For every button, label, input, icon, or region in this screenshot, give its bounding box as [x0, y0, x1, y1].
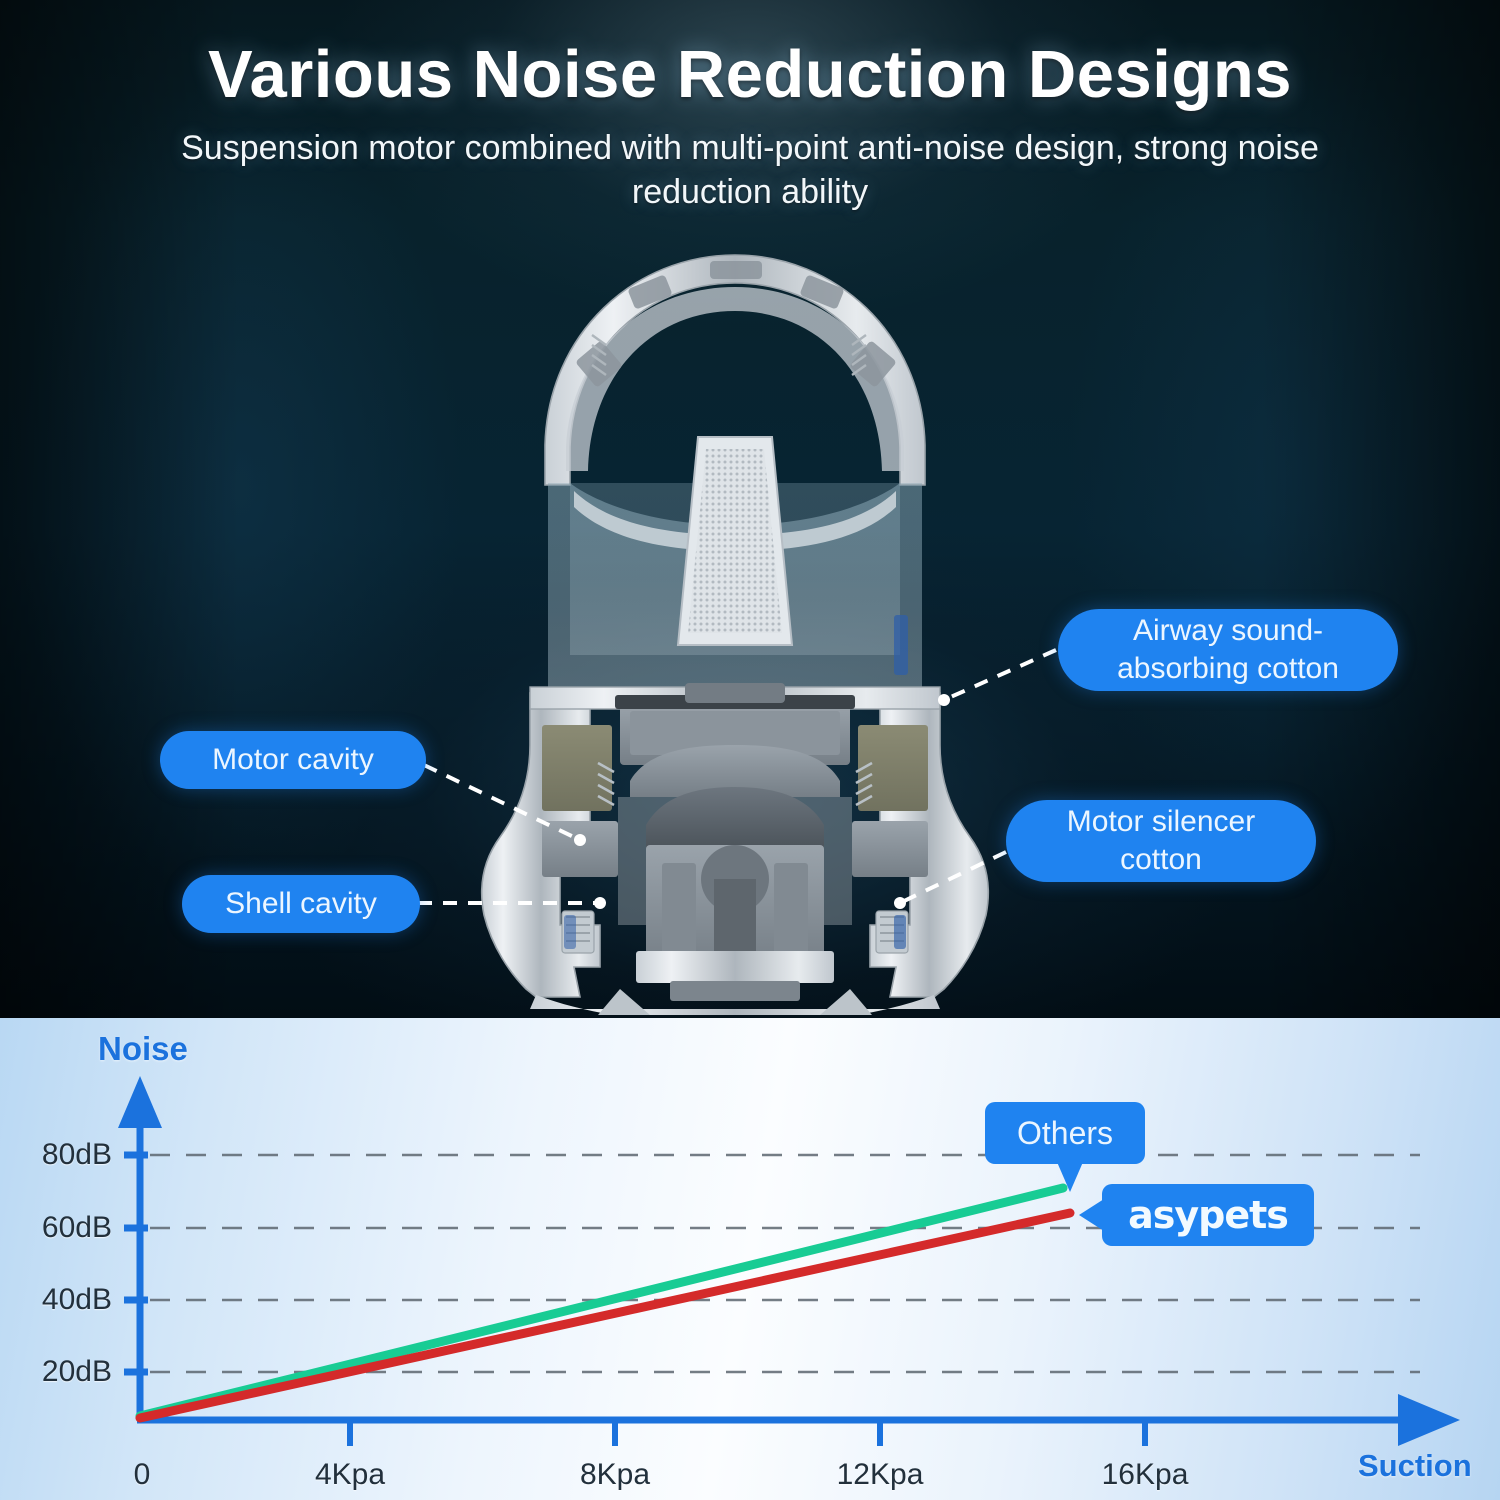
callout-motor-cavity[interactable]: Motor cavity: [160, 731, 426, 789]
callout-shell-cavity[interactable]: Shell cavity: [182, 875, 420, 933]
chart-plot-area: [0, 1018, 1500, 1500]
y-tick-label-40db: 40dB: [22, 1283, 112, 1317]
y-tick-label-60db: 60dB: [22, 1211, 112, 1245]
series-others-line: [140, 1188, 1063, 1416]
x-tick-label-0: 0: [72, 1458, 212, 1492]
x-axis-arrow: [1398, 1394, 1460, 1446]
page-title: Various Noise Reduction Designs: [0, 36, 1500, 113]
noise-vs-suction-chart: Noise Suction 80dB 60dB 40dB 20dB 0 4Kpa…: [0, 1018, 1500, 1500]
series-label-others[interactable]: Others: [985, 1102, 1145, 1164]
series-label-others-pointer: [1057, 1162, 1083, 1192]
y-axis-label: Noise: [98, 1030, 188, 1068]
callout-airway-sound-absorbing-cotton[interactable]: Airway sound-absorbing cotton: [1058, 609, 1398, 691]
callout-motor-silencer-cotton[interactable]: Motor silencer cotton: [1006, 800, 1316, 882]
asypets-wordmark: asypets: [1128, 1193, 1288, 1237]
y-axis-arrow: [118, 1076, 162, 1128]
page-subtitle: Suspension motor combined with multi-poi…: [180, 126, 1320, 214]
x-tick-label-4kpa: 4Kpa: [280, 1458, 420, 1492]
hero-section: Various Noise Reduction Designs Suspensi…: [0, 0, 1500, 1018]
x-tick-label-8kpa: 8Kpa: [545, 1458, 685, 1492]
x-tick-label-16kpa: 16Kpa: [1075, 1458, 1215, 1492]
y-tick-label-80db: 80dB: [22, 1138, 112, 1172]
x-axis-label: Suction: [1358, 1448, 1472, 1484]
series-asypets-line: [140, 1213, 1070, 1418]
series-label-asypets-pointer: [1079, 1199, 1104, 1231]
y-tick-label-20db: 20dB: [22, 1355, 112, 1389]
x-tick-label-12kpa: 12Kpa: [810, 1458, 950, 1492]
series-label-asypets[interactable]: asypets: [1102, 1184, 1314, 1246]
device-cross-section-image: [470, 225, 1000, 1015]
